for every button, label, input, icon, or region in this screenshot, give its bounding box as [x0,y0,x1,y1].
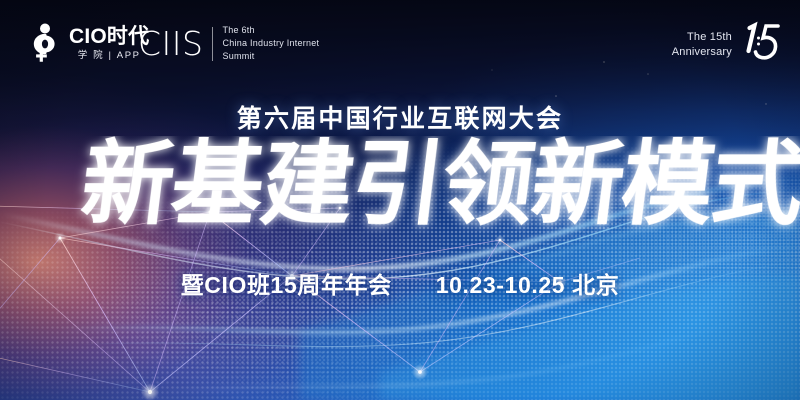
subline-event-name: 暨CIO班15周年年会 [181,272,392,298]
ciis-tagline: The 6th China Industry Internet Summit [222,24,319,63]
headline-text: 新基建引领新模式 [76,136,800,238]
anniversary-text: The 15th Anniversary [672,30,732,61]
cio-logo: CIO时代 学 院 | APP [28,22,149,64]
anniversary-line1: The 15th [672,30,732,45]
conference-banner: CIO时代 学 院 | APP CIIS The 6th China Indus… [0,0,800,400]
subline-date-location: 10.23-10.25 北京 [436,272,620,298]
event-subline: 暨CIO班15周年年会 10.23-10.25 北京 [0,266,800,300]
ciis-tagline-line3: Summit [222,50,319,63]
headline-calligraphy: 新基建引领新模式 [0,136,800,248]
ciis-divider [212,27,213,61]
ciis-tagline-line2: China Industry Internet [222,37,319,50]
conference-kicker-title: 第六届中国行业互联网大会 [0,99,800,135]
ciis-wordmark: CIIS [138,27,203,60]
ciis-tagline-line1: The 6th [222,24,319,37]
headline-calligraphy-svg: 新基建引领新模式 [0,136,800,248]
cio-person-icon [28,22,62,64]
anniversary-badge: The 15th Anniversary [672,24,782,66]
anniversary-line2: Anniversary [672,45,732,60]
ciis-logo: CIIS The 6th China Industry Internet Sum… [138,24,319,63]
anniversary-numeral-icon [736,18,782,66]
banner-header: CIO时代 学 院 | APP CIIS The 6th China Indus… [0,0,800,86]
